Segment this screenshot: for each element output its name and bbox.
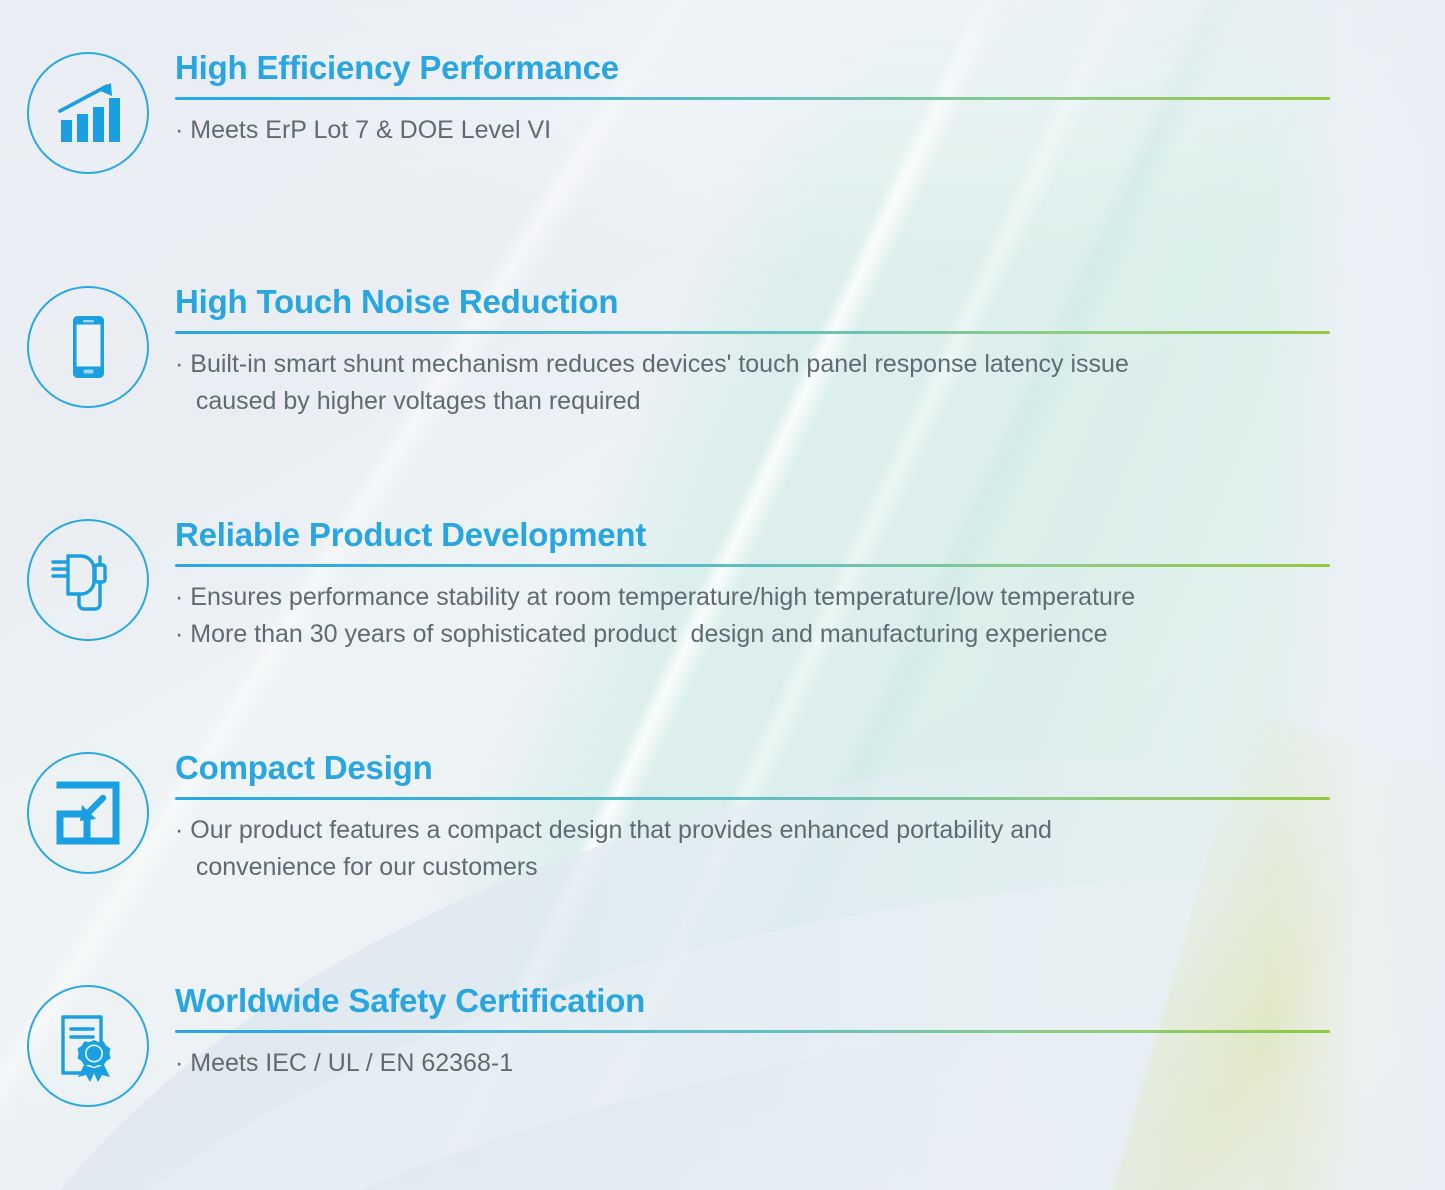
feature-item-high-efficiency-performance: High Efficiency Performance · Meets ErP … xyxy=(0,50,1445,174)
feature-divider xyxy=(175,797,1330,800)
feature-divider xyxy=(175,331,1330,334)
feature-text-block: Compact Design · Our product features a … xyxy=(175,750,1445,886)
feature-item-high-touch-noise-reduction: High Touch Noise Reduction · Built-in sm… xyxy=(0,284,1445,420)
feature-text-block: High Efficiency Performance · Meets ErP … xyxy=(175,50,1445,149)
feature-bullet: · Built-in smart shunt mechanism reduces… xyxy=(175,346,1365,420)
feature-title: High Touch Noise Reduction xyxy=(175,284,1365,320)
feature-bullet: · Ensures performance stability at room … xyxy=(175,579,1365,616)
feature-list: High Efficiency Performance · Meets ErP … xyxy=(0,0,1445,1190)
power-adapter-icon xyxy=(27,519,149,641)
feature-item-compact-design: Compact Design · Our product features a … xyxy=(0,750,1445,886)
feature-text-block: Reliable Product Development · Ensures p… xyxy=(175,517,1445,653)
certificate-award-icon xyxy=(27,985,149,1107)
smartphone-icon xyxy=(27,286,149,408)
bar-chart-growth-icon xyxy=(27,52,149,174)
feature-bullets: · Meets ErP Lot 7 & DOE Level VI xyxy=(175,112,1365,149)
feature-item-worldwide-safety-certification: Worldwide Safety Certification · Meets I… xyxy=(0,983,1445,1107)
feature-text-block: High Touch Noise Reduction · Built-in sm… xyxy=(175,284,1445,420)
feature-title: Compact Design xyxy=(175,750,1365,786)
feature-divider xyxy=(175,564,1330,567)
feature-bullets: · Meets IEC / UL / EN 62368-1 xyxy=(175,1045,1365,1082)
feature-title: High Efficiency Performance xyxy=(175,50,1365,86)
feature-bullet: · Meets IEC / UL / EN 62368-1 xyxy=(175,1045,1365,1082)
feature-bullet: · More than 30 years of sophisticated pr… xyxy=(175,616,1365,653)
feature-bullet: · Meets ErP Lot 7 & DOE Level VI xyxy=(175,112,1365,149)
feature-highlights-page: High Efficiency Performance · Meets ErP … xyxy=(0,0,1445,1190)
feature-divider xyxy=(175,97,1330,100)
feature-icon-wrapper xyxy=(0,750,175,874)
feature-icon-wrapper xyxy=(0,983,175,1107)
feature-text-block: Worldwide Safety Certification · Meets I… xyxy=(175,983,1445,1082)
feature-bullets: · Built-in smart shunt mechanism reduces… xyxy=(175,346,1365,420)
feature-divider xyxy=(175,1030,1330,1033)
feature-title: Worldwide Safety Certification xyxy=(175,983,1365,1019)
feature-icon-wrapper xyxy=(0,284,175,408)
feature-item-reliable-product-development: Reliable Product Development · Ensures p… xyxy=(0,517,1445,653)
feature-icon-wrapper xyxy=(0,517,175,641)
feature-bullets: · Our product features a compact design … xyxy=(175,812,1365,886)
feature-icon-wrapper xyxy=(0,50,175,174)
feature-bullets: · Ensures performance stability at room … xyxy=(175,579,1365,653)
feature-bullet: · Our product features a compact design … xyxy=(175,812,1365,886)
compact-resize-icon xyxy=(27,752,149,874)
feature-title: Reliable Product Development xyxy=(175,517,1365,553)
